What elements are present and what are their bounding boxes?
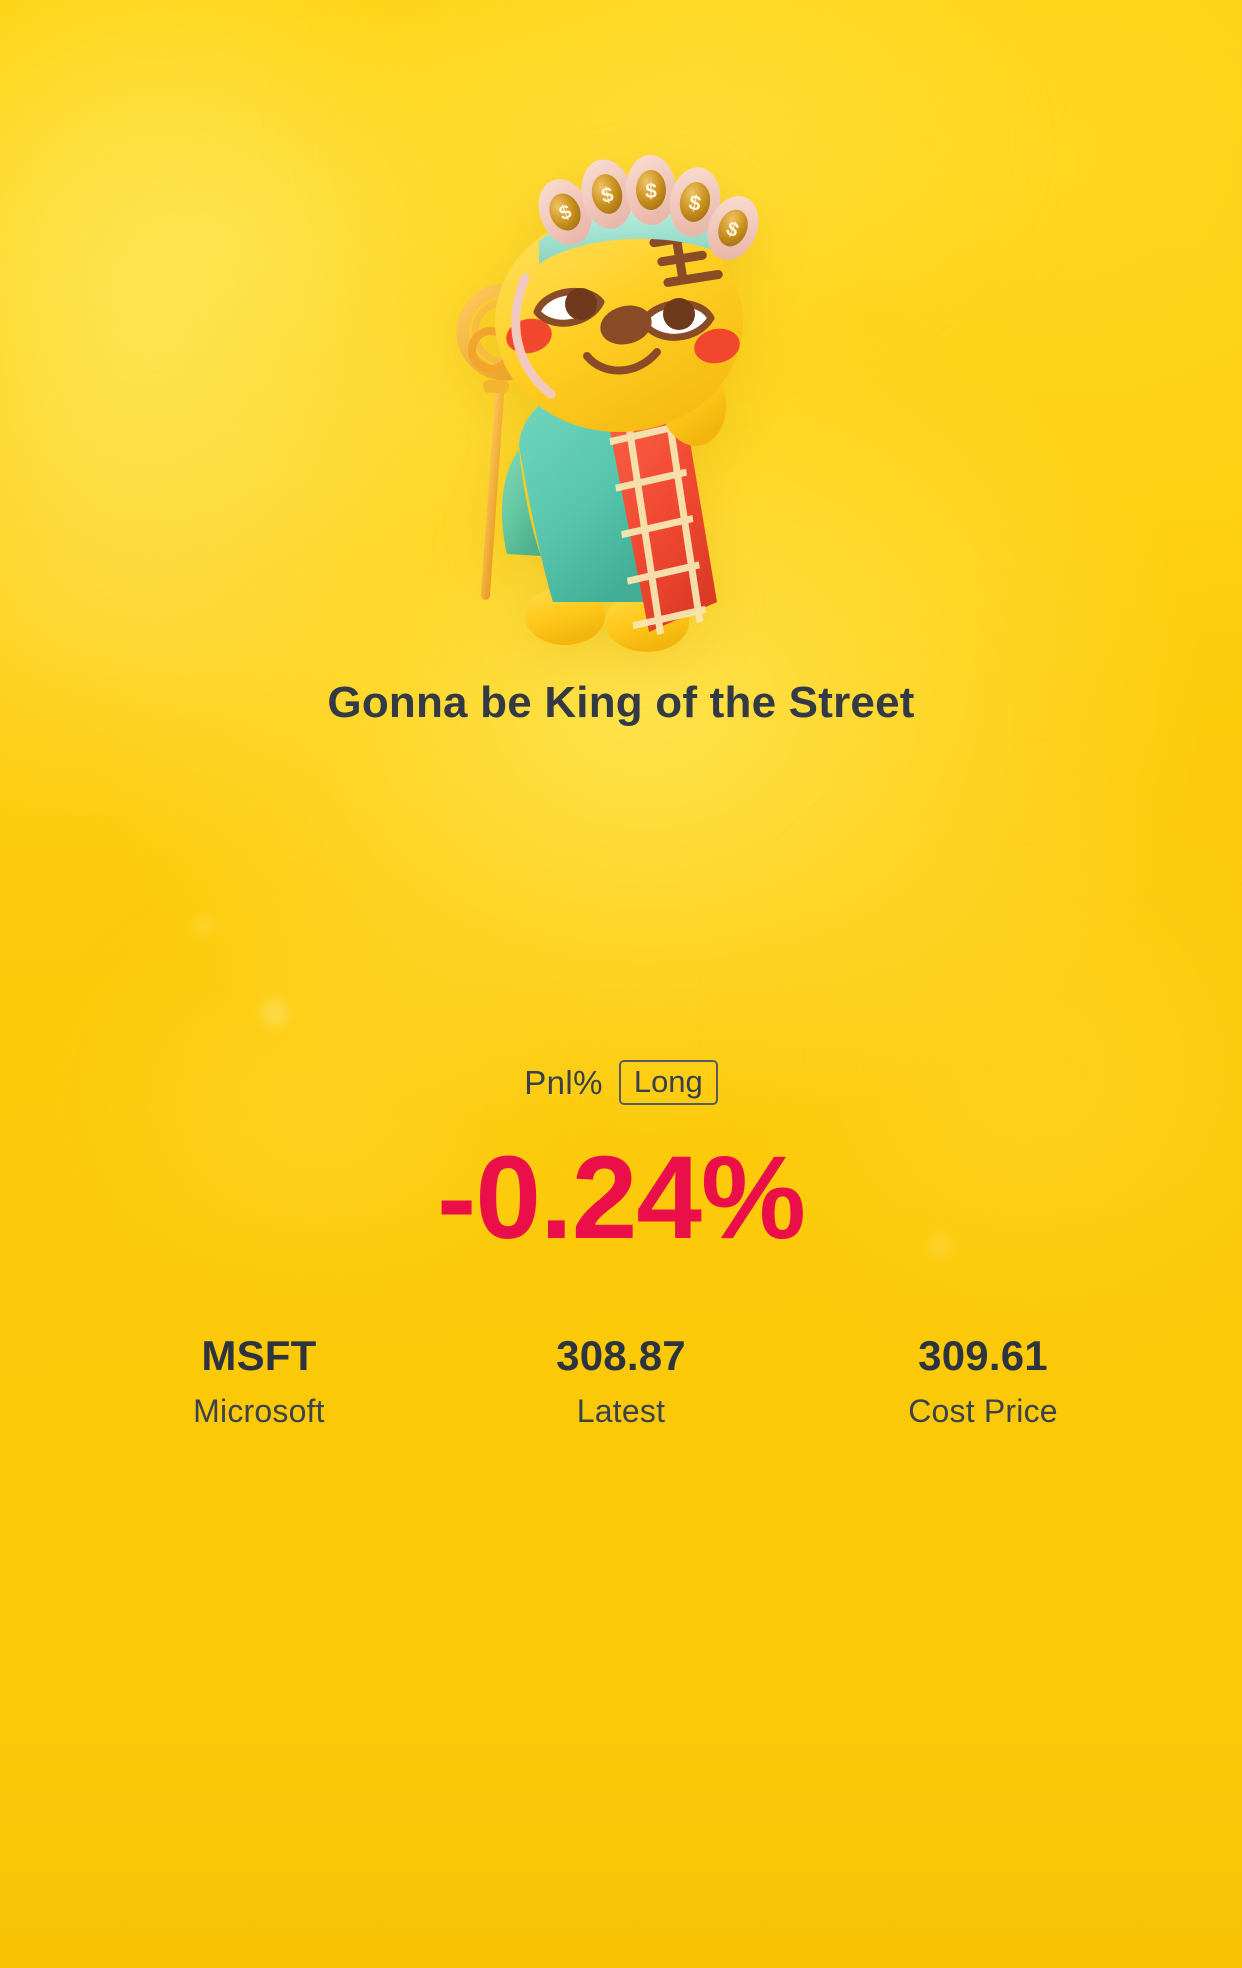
- mascot-illustration-container: $ $ $ $: [0, 150, 1242, 670]
- stat-latest: 308.87 Latest: [440, 1330, 802, 1435]
- stat-symbol-label: Microsoft: [78, 1387, 440, 1435]
- stat-symbol: MSFT Microsoft: [78, 1330, 440, 1435]
- page-title: Gonna be King of the Street: [0, 678, 1242, 728]
- tiger-king-mascot-icon: $ $ $ $: [411, 150, 831, 670]
- stat-cost-price-label: Cost Price: [802, 1387, 1164, 1435]
- pnl-label: Pnl%: [524, 1064, 603, 1102]
- position-direction-badge: Long: [619, 1060, 718, 1105]
- stat-cost-price-value: 309.61: [802, 1330, 1164, 1381]
- stat-latest-label: Latest: [440, 1387, 802, 1435]
- stat-symbol-value: MSFT: [78, 1330, 440, 1381]
- share-card: $ $ $ $: [0, 0, 1242, 1968]
- stat-latest-value: 308.87: [440, 1330, 802, 1381]
- svg-text:$: $: [645, 180, 657, 203]
- pnl-percent-value: -0.24%: [0, 1125, 1242, 1273]
- pnl-header-row: Pnl% Long: [0, 1060, 1242, 1105]
- stat-cost-price: 309.61 Cost Price: [802, 1330, 1164, 1435]
- stats-row: MSFT Microsoft 308.87 Latest 309.61 Cost…: [78, 1330, 1164, 1435]
